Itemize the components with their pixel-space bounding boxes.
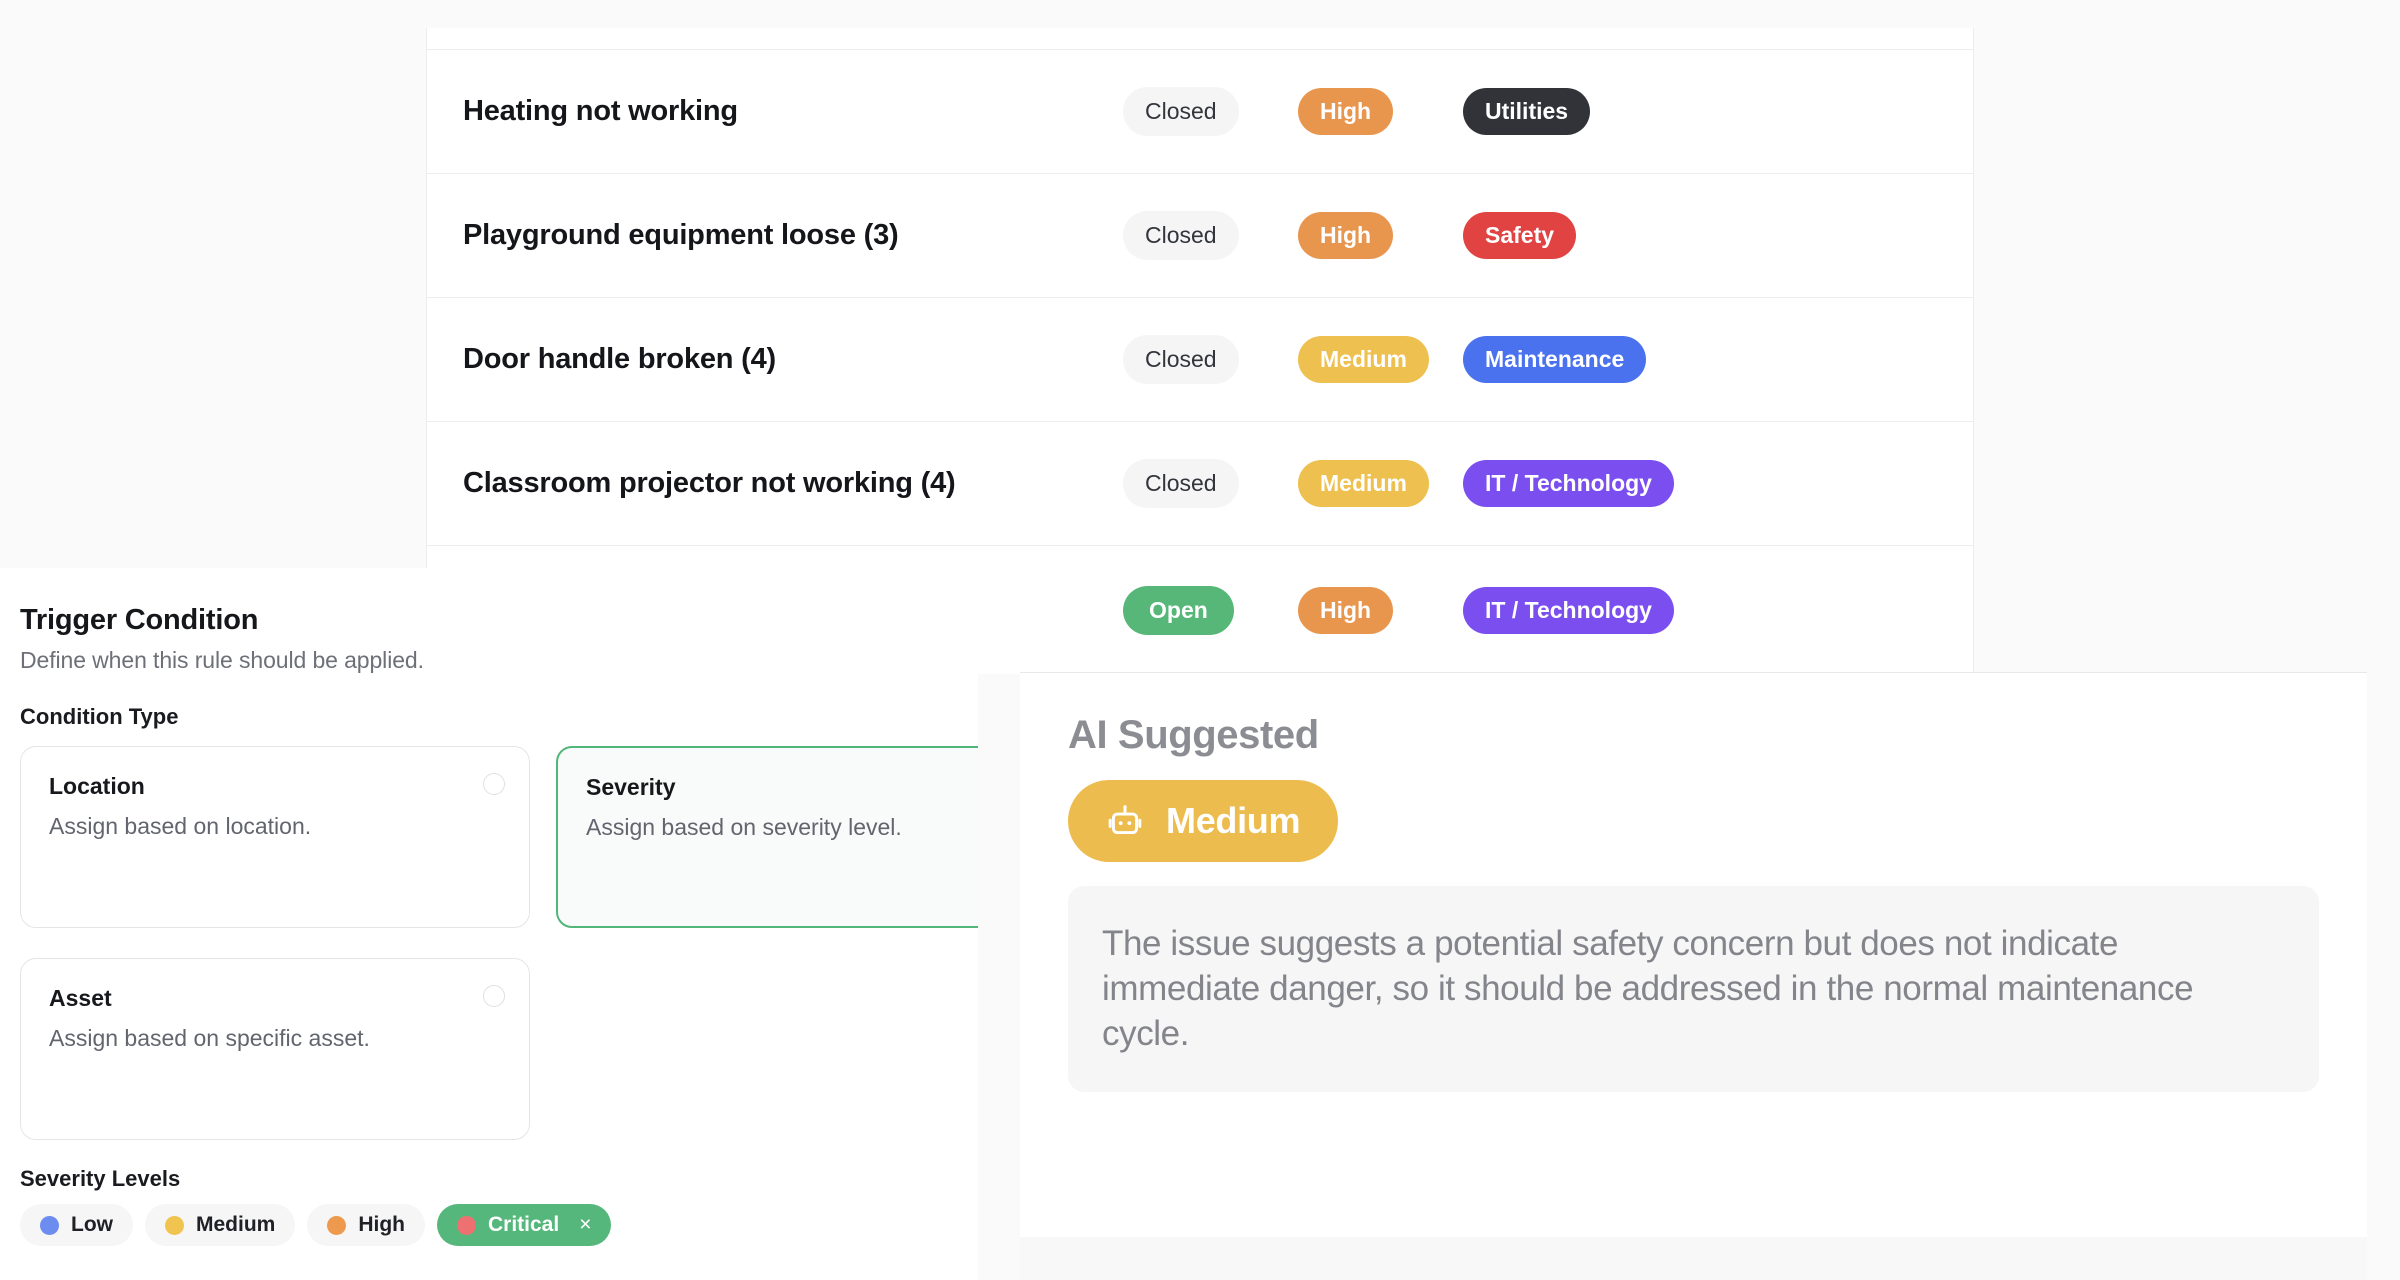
issue-status-cell: Open: [1123, 586, 1298, 635]
ai-suggested-panel: AI Suggested Medium The issue suggests a…: [1020, 672, 2367, 1237]
ai-suggested-title: AI Suggested: [1068, 713, 2319, 758]
condition-type-label: Condition Type: [20, 704, 958, 730]
category-badge: Maintenance: [1463, 336, 1646, 383]
radio-icon[interactable]: [483, 985, 505, 1007]
severity-badge: High: [1298, 212, 1393, 259]
severity-chip-high[interactable]: High: [307, 1204, 425, 1246]
option-description: Assign based on specific asset.: [49, 1025, 501, 1052]
issue-status-cell: Closed: [1123, 211, 1298, 260]
ai-badge-label: Medium: [1166, 800, 1300, 842]
issue-severity-cell: Medium: [1298, 336, 1463, 383]
severity-color-dot: [457, 1216, 476, 1235]
issue-category-cell: Safety: [1463, 212, 1803, 259]
table-row[interactable]: Door handle broken (4) Closed Medium Mai…: [427, 298, 1973, 422]
issue-severity-cell: High: [1298, 587, 1463, 634]
robot-icon: [1106, 804, 1144, 838]
issue-category-cell: Maintenance: [1463, 336, 1803, 383]
issue-severity-cell: Medium: [1298, 460, 1463, 507]
issue-category-cell: IT / Technology: [1463, 460, 1803, 507]
issue-category-cell: Utilities: [1463, 88, 1803, 135]
issue-status-cell: Closed: [1123, 459, 1298, 508]
page-title: Trigger Condition: [20, 604, 958, 637]
panel-footer-strip: [1020, 1237, 2367, 1280]
table-row[interactable]: Playground equipment loose (3) Closed Hi…: [427, 174, 1973, 298]
category-badge: IT / Technology: [1463, 460, 1674, 507]
status-badge: Closed: [1123, 211, 1239, 260]
table-row[interactable]: Classroom projector not working (4) Clos…: [427, 422, 1973, 546]
option-title: Asset: [49, 985, 501, 1012]
issue-severity-cell: High: [1298, 88, 1463, 135]
radio-icon[interactable]: [483, 773, 505, 795]
table-row[interactable]: Heating not working Closed High Utilitie…: [427, 50, 1973, 174]
severity-chip-medium[interactable]: Medium: [145, 1204, 295, 1246]
status-badge: Closed: [1123, 459, 1239, 508]
issue-category-cell: IT / Technology: [1463, 587, 1803, 634]
chip-label: High: [358, 1213, 405, 1237]
issue-status-cell: Closed: [1123, 335, 1298, 384]
severity-badge: Medium: [1298, 336, 1429, 383]
severity-chip-critical[interactable]: Critical ×: [437, 1204, 611, 1246]
severity-chip-low[interactable]: Low: [20, 1204, 133, 1246]
issue-title: Classroom projector not working (4): [463, 467, 1123, 500]
option-description: Assign based on location.: [49, 813, 501, 840]
severity-levels-chips: Low Medium High Critical ×: [20, 1204, 958, 1246]
status-badge: Closed: [1123, 87, 1239, 136]
issue-severity-cell: High: [1298, 212, 1463, 259]
app-root: Heating not working Closed High Utilitie…: [0, 0, 2400, 1280]
severity-badge: Medium: [1298, 460, 1429, 507]
issue-title: Door handle broken (4): [463, 343, 1123, 376]
ai-explanation-text: The issue suggests a potential safety co…: [1068, 886, 2319, 1092]
chip-label: Medium: [196, 1213, 275, 1237]
category-badge: Utilities: [1463, 88, 1590, 135]
category-badge: Safety: [1463, 212, 1576, 259]
status-badge: Open: [1123, 586, 1234, 635]
severity-color-dot: [165, 1216, 184, 1235]
severity-color-dot: [40, 1216, 59, 1235]
condition-option-asset[interactable]: Asset Assign based on specific asset.: [20, 958, 530, 1140]
ai-suggested-severity-badge[interactable]: Medium: [1068, 780, 1338, 862]
severity-levels-label: Severity Levels: [20, 1166, 958, 1192]
option-description: Assign based on severity level.: [586, 814, 978, 841]
trigger-condition-panel: Trigger Condition Define when this rule …: [0, 568, 978, 1280]
issue-status-cell: Closed: [1123, 87, 1298, 136]
condition-option-severity[interactable]: Severity Assign based on severity level.: [556, 746, 978, 928]
chip-label: Critical: [488, 1213, 559, 1237]
table-row-partial[interactable]: [427, 28, 1973, 50]
option-title: Severity: [586, 774, 978, 801]
severity-badge: High: [1298, 587, 1393, 634]
option-title: Location: [49, 773, 501, 800]
issue-title: Heating not working: [463, 95, 1123, 128]
panel-subtitle: Define when this rule should be applied.: [20, 647, 958, 674]
condition-option-location[interactable]: Location Assign based on location.: [20, 746, 530, 928]
severity-badge: High: [1298, 88, 1393, 135]
chip-label: Low: [71, 1213, 113, 1237]
close-icon[interactable]: ×: [579, 1213, 591, 1237]
issue-title: Playground equipment loose (3): [463, 219, 1123, 252]
status-badge: Closed: [1123, 335, 1239, 384]
condition-type-options: Location Assign based on location. Sever…: [20, 746, 958, 1140]
category-badge: IT / Technology: [1463, 587, 1674, 634]
severity-color-dot: [327, 1216, 346, 1235]
